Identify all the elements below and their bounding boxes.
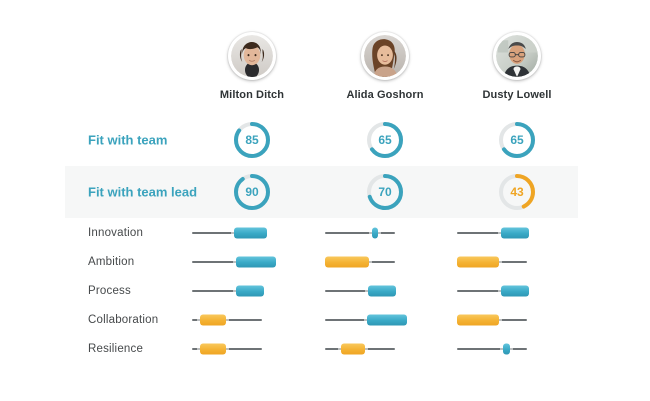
trait-label: Ambition	[88, 256, 134, 268]
slider-thumb[interactable]	[367, 314, 407, 325]
trait-slider[interactable]	[457, 343, 527, 355]
trait-label: Resilience	[88, 343, 143, 355]
avatar[interactable]	[493, 32, 541, 80]
slider-thumb[interactable]	[368, 285, 396, 296]
gauge-cell-2[interactable]: 65	[457, 120, 577, 160]
fit-row-label: Fit with team	[88, 133, 167, 148]
trait-row-resilience: Resilience	[0, 334, 650, 363]
person-column-0: Milton Ditch	[192, 32, 312, 112]
gauge-value: 65	[365, 120, 405, 160]
avatar-photo-dusty	[496, 35, 538, 77]
trait-slider[interactable]	[192, 343, 262, 355]
slider-thumb[interactable]	[236, 256, 276, 267]
slider-thumb[interactable]	[234, 227, 267, 238]
trait-label: Collaboration	[88, 314, 158, 326]
fit-row-label: Fit with team lead	[88, 185, 197, 200]
fit-gauge: 85	[232, 120, 272, 160]
trait-slider[interactable]	[457, 314, 527, 326]
fit-gauge: 70	[365, 172, 405, 212]
gauge-cell-0[interactable]: 90	[192, 172, 312, 212]
slider-thumb[interactable]	[501, 285, 529, 296]
trait-row-collaboration: Collaboration	[0, 305, 650, 334]
fit-row-team-lead: Fit with team lead 90 70 43	[0, 166, 650, 218]
slider-thumb[interactable]	[200, 314, 226, 325]
slider-thumb[interactable]	[325, 256, 369, 267]
gauge-value: 65	[497, 120, 537, 160]
trait-label: Innovation	[88, 227, 143, 239]
slider-thumb[interactable]	[501, 227, 529, 238]
person-column-1: Alida Goshorn	[325, 32, 445, 112]
trait-slider[interactable]	[192, 285, 262, 297]
gauge-cell-1[interactable]: 65	[325, 120, 445, 160]
trait-slider[interactable]	[192, 314, 262, 326]
slider-thumb[interactable]	[236, 285, 264, 296]
slider-thumb[interactable]	[341, 343, 365, 354]
gauge-value: 85	[232, 120, 272, 160]
trait-label: Process	[88, 285, 131, 297]
trait-row-innovation: Innovation	[0, 218, 650, 247]
fit-gauge: 43	[497, 172, 537, 212]
slider-thumb[interactable]	[503, 343, 510, 354]
trait-slider[interactable]	[457, 285, 527, 297]
person-name: Dusty Lowell	[457, 89, 577, 101]
slider-thumb[interactable]	[457, 256, 499, 267]
person-column-2: Dusty Lowell	[457, 32, 577, 112]
slider-thumb[interactable]	[200, 343, 226, 354]
trait-slider[interactable]	[325, 343, 395, 355]
trait-list: Innovation Ambition Process Collaboratio…	[0, 218, 650, 363]
gauge-value: 43	[497, 172, 537, 212]
gauge-cell-0[interactable]: 85	[192, 120, 312, 160]
trait-slider[interactable]	[457, 256, 527, 268]
slider-track	[325, 232, 395, 234]
fit-row-team: Fit with team 85 65 65	[0, 114, 650, 166]
avatar[interactable]	[361, 32, 409, 80]
fit-gauge: 65	[365, 120, 405, 160]
person-name: Milton Ditch	[192, 89, 312, 101]
trait-slider[interactable]	[325, 227, 395, 239]
slider-track	[457, 348, 527, 350]
slider-thumb[interactable]	[457, 314, 499, 325]
person-name: Alida Goshorn	[325, 89, 445, 101]
fit-gauge: 90	[232, 172, 272, 212]
gauge-cell-1[interactable]: 70	[325, 172, 445, 212]
fit-gauge: 65	[497, 120, 537, 160]
gauge-value: 70	[365, 172, 405, 212]
trait-slider[interactable]	[192, 256, 262, 268]
comparison-board: Milton Ditch	[0, 0, 650, 401]
trait-slider[interactable]	[457, 227, 527, 239]
trait-slider[interactable]	[325, 314, 395, 326]
avatar[interactable]	[228, 32, 276, 80]
avatar-photo-milton	[231, 35, 273, 77]
trait-row-ambition: Ambition	[0, 247, 650, 276]
gauge-value: 90	[232, 172, 272, 212]
avatar-photo-alida	[364, 35, 406, 77]
trait-slider[interactable]	[325, 256, 395, 268]
trait-row-process: Process	[0, 276, 650, 305]
trait-slider[interactable]	[325, 285, 395, 297]
slider-thumb[interactable]	[372, 227, 378, 238]
trait-slider[interactable]	[192, 227, 262, 239]
gauge-cell-2[interactable]: 43	[457, 172, 577, 212]
